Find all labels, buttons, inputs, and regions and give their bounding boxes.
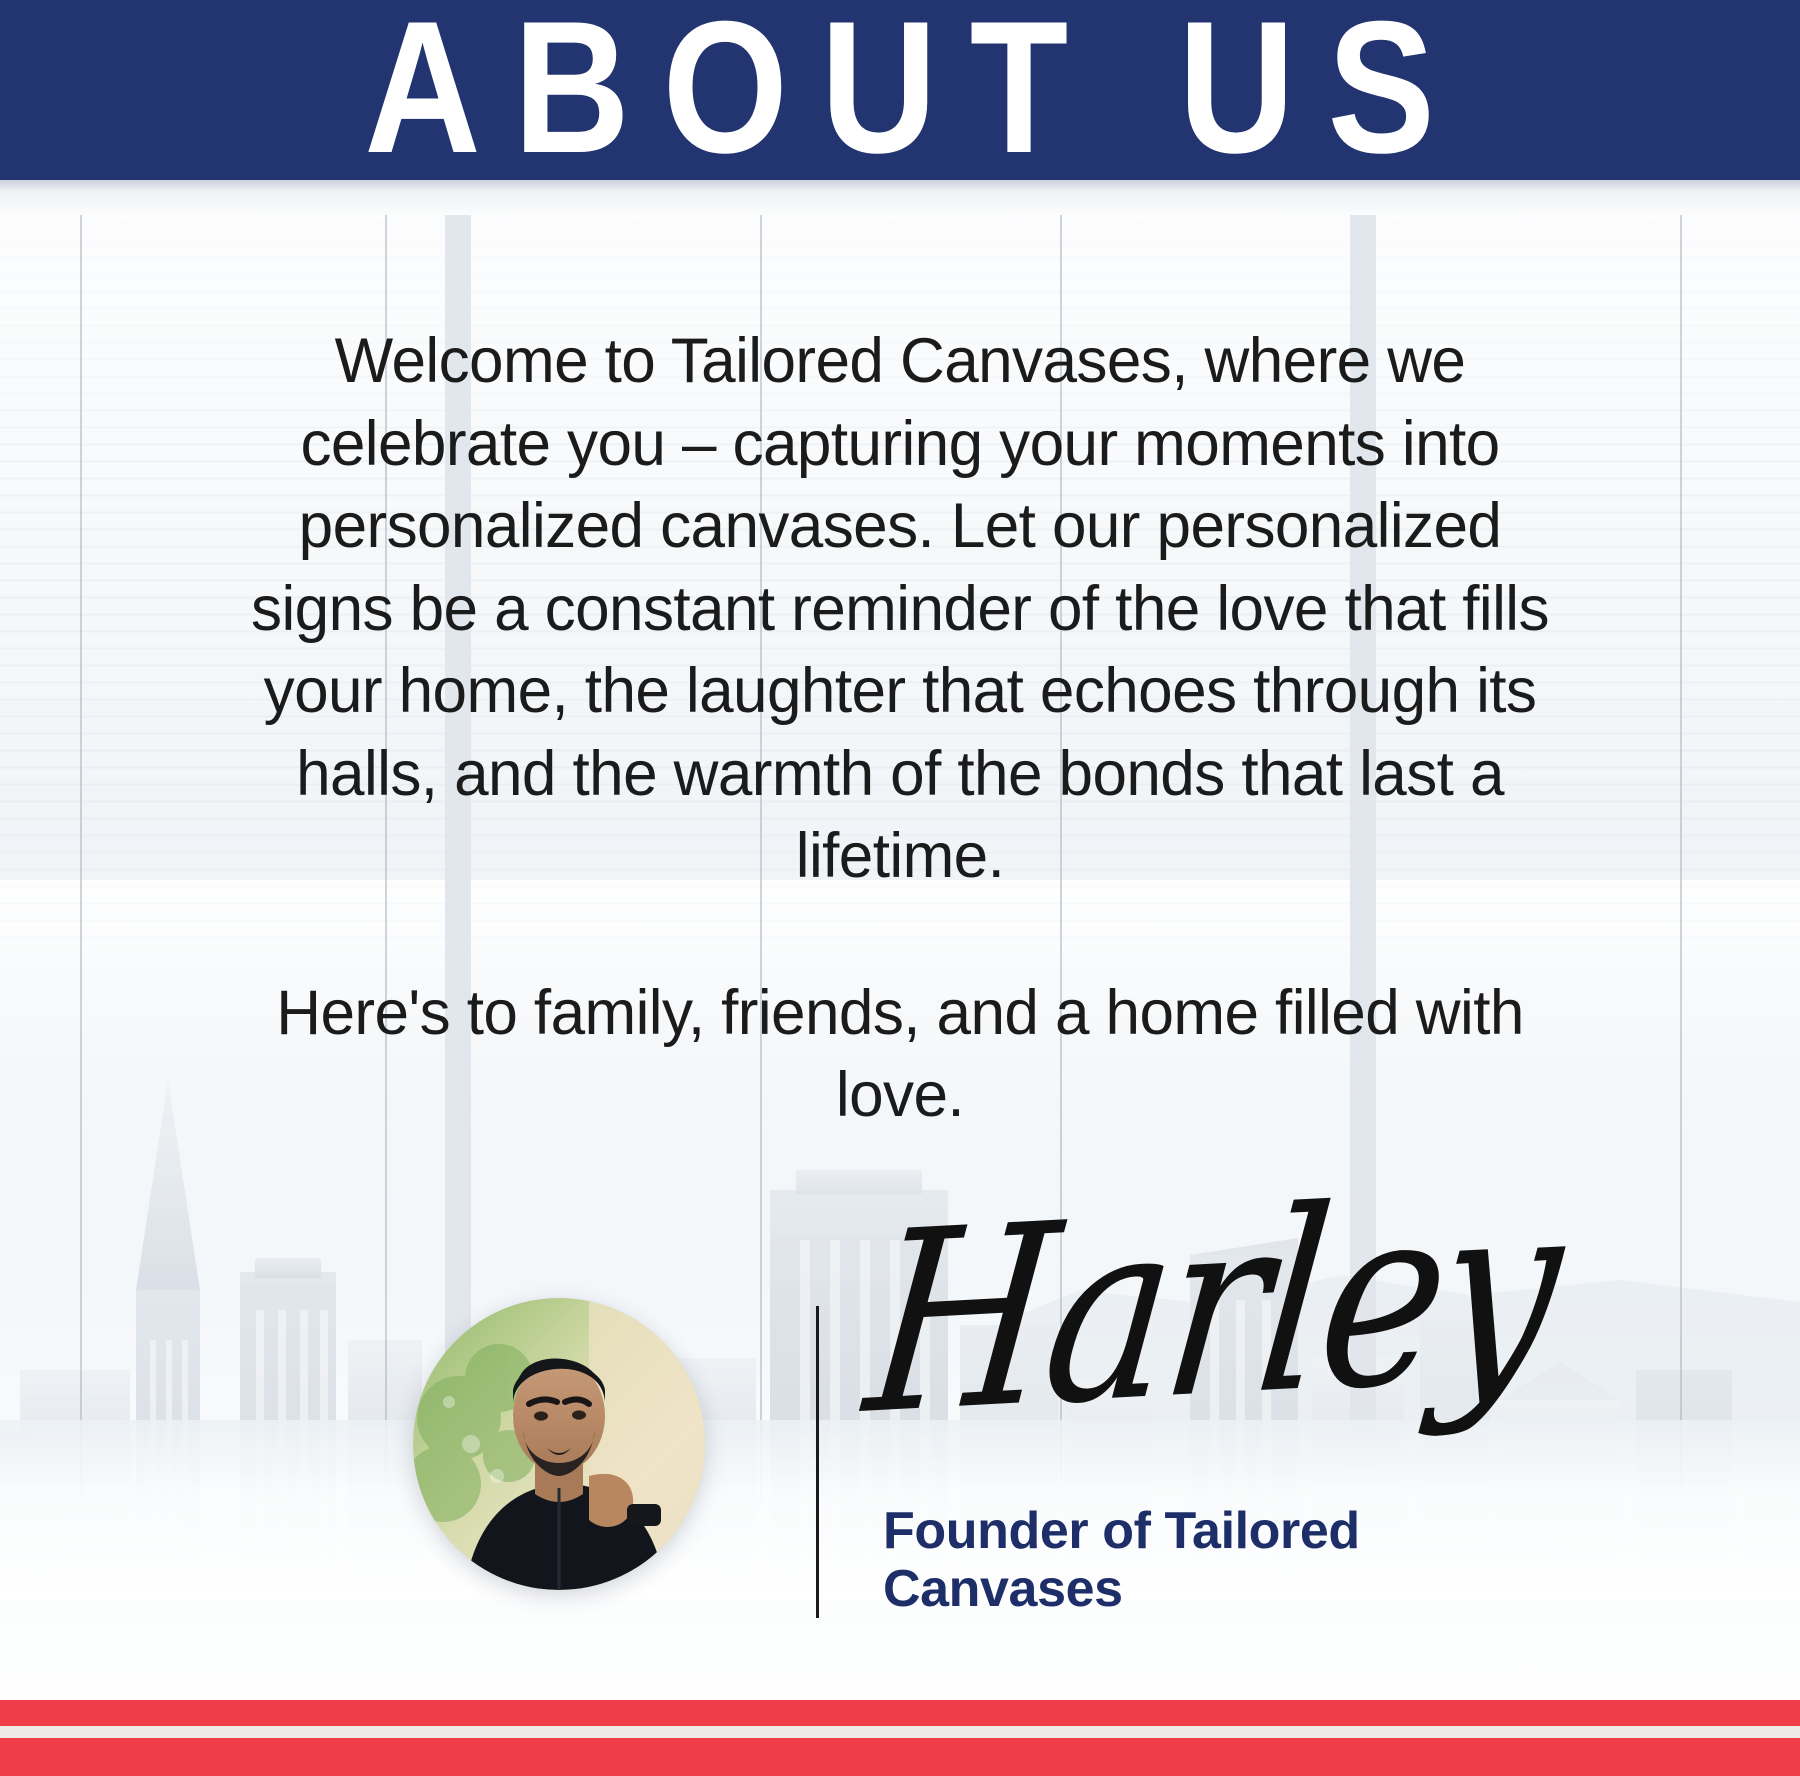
paragraph-spacer: [240, 898, 1560, 972]
footer-stripe-lower: [0, 1738, 1800, 1776]
founder-role-line-2: Canvases: [883, 1560, 1483, 1618]
avatar: [413, 1298, 705, 1590]
footer-spacer: [0, 1636, 1800, 1700]
founder-role: Founder of Tailored Canvases: [883, 1502, 1483, 1618]
signature-divider: [816, 1306, 819, 1618]
page-title: ABOUT US: [332, 0, 1468, 180]
signature-row: Harley Founder of Tailored Canvases: [0, 1270, 1800, 1630]
footer-stripes: [0, 1636, 1800, 1776]
founder-signature: Harley: [858, 1165, 1566, 1450]
header-band: ABOUT US: [0, 0, 1800, 180]
about-copy: Welcome to Tailored Canvases, where we c…: [240, 320, 1560, 1137]
about-paragraph-2: Here's to family, friends, and a home fi…: [250, 972, 1550, 1137]
footer-stripe-gap: [0, 1726, 1800, 1738]
header-drop-shadow: [0, 180, 1800, 216]
founder-role-line-1: Founder of Tailored: [883, 1502, 1483, 1560]
footer-stripe-upper: [0, 1700, 1800, 1726]
about-paragraph-1: Welcome to Tailored Canvases, where we c…: [250, 320, 1550, 898]
about-us-poster: ABOUT US Welcome to Tailored Canvases, w…: [0, 0, 1800, 1776]
